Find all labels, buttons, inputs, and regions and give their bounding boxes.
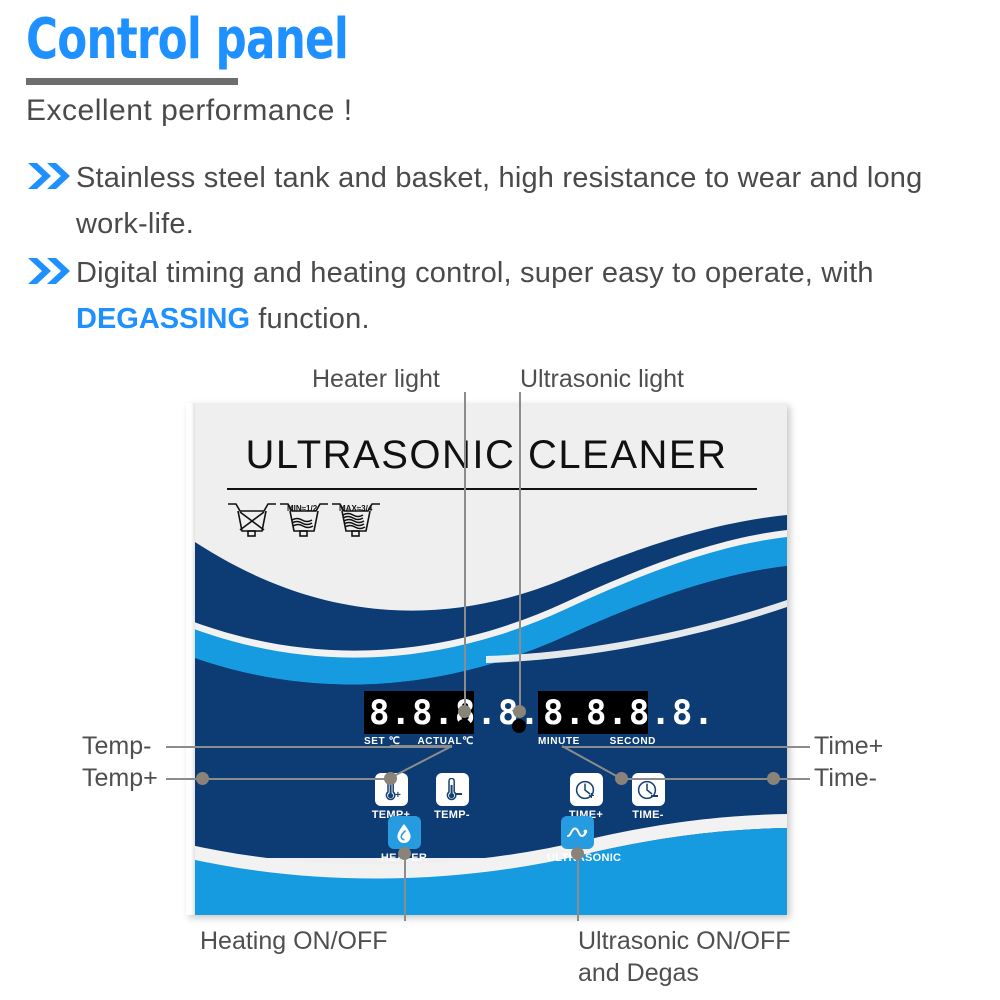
- water-drop-icon: [388, 816, 421, 849]
- tank-empty-forbidden-icon: [228, 504, 276, 536]
- timer-led-window: 8.8.8.8.: [538, 691, 648, 734]
- callout-heater-light: Heater light: [312, 363, 440, 395]
- callout-temp-minus: Temp-: [82, 730, 151, 762]
- panel-left-edge: [186, 403, 195, 915]
- callout-temp-plus: Temp+: [82, 762, 158, 794]
- timer-display: 8.8.8.8. MINUTE SECOND: [538, 691, 656, 747]
- leader-line-heating-onoff: [404, 855, 406, 921]
- leader-line-time-minus: [620, 778, 810, 780]
- panel-title-rule: [227, 488, 757, 490]
- leader-line-ultrasonic-onoff: [577, 855, 579, 921]
- panel-wave-artwork: [186, 403, 787, 915]
- time-plus-button[interactable]: + TIME+: [556, 773, 616, 821]
- feature-bullet-2-pre: Digital timing and heating control, supe…: [76, 257, 874, 289]
- control-panel-device: ULTRASONIC CLEANER: [186, 403, 787, 915]
- panel-brand-title: ULTRASONIC CLEANER: [186, 433, 787, 478]
- ultrasonic-indicator-light: [512, 719, 526, 733]
- tagline: Excellent performance !: [26, 94, 353, 128]
- leader-dot-heating-onoff: [398, 847, 411, 860]
- timer-led-digits: 8.8.8.8.: [543, 695, 643, 731]
- tank-min-label: MIN≈1/2: [287, 504, 318, 513]
- sound-wave-icon: [561, 816, 594, 849]
- time-minus-label: TIME-: [618, 809, 678, 821]
- leader-dot-temp-plus: [384, 772, 397, 785]
- double-chevron-icon: [26, 155, 76, 196]
- feature-bullet-2: Digital timing and heating control, supe…: [26, 250, 976, 342]
- degassing-highlight: DEGASSING: [76, 303, 250, 335]
- callout-heating-onoff: Heating ON/OFF: [200, 925, 388, 957]
- callout-ultrasonic-onoff-line1: Ultrasonic ON/OFF: [578, 925, 791, 957]
- temperature-led-digits: 8.8.8.8.: [369, 695, 469, 731]
- feature-bullet-1: Stainless steel tank and basket, high re…: [26, 155, 976, 247]
- callout-ultrasonic-light: Ultrasonic light: [520, 363, 684, 395]
- feature-bullet-2-text: Digital timing and heating control, supe…: [76, 250, 976, 342]
- tank-level-icon-group: MIN≈1/2 MAX≈3/4: [224, 498, 384, 545]
- callout-ultrasonic-onoff: Ultrasonic ON/OFF and Degas: [578, 925, 791, 989]
- leader-dot-heater-light: [458, 705, 471, 718]
- leader-line-ultrasonic-light: [519, 392, 521, 714]
- leader-dot-time-minus: [615, 772, 628, 785]
- svg-text:+: +: [395, 790, 401, 801]
- page-title: Control panel: [26, 12, 348, 68]
- feature-bullet-1-text: Stainless steel tank and basket, high re…: [76, 155, 976, 247]
- leader-dot-temp-panel-left: [196, 772, 209, 785]
- callout-ultrasonic-onoff-line2: and Degas: [578, 957, 791, 989]
- leader-dot-time-panel-right: [767, 772, 780, 785]
- tank-max-label: MAX≈3/4: [339, 504, 373, 513]
- svg-text:+: +: [589, 791, 595, 802]
- double-chevron-icon: [26, 250, 76, 291]
- title-underline-rule: [26, 78, 238, 85]
- header-section: Control panel Excellent performance ! St…: [0, 0, 1000, 352]
- temperature-display: 8.8.8.8. SET ℃ ACTUAL℃: [364, 691, 474, 747]
- heater-indicator-light: [457, 719, 471, 733]
- leader-line-time-plus: [562, 746, 810, 748]
- leader-line-heater-light: [464, 392, 466, 714]
- leader-line-temp-minus: [166, 746, 452, 748]
- thermometer-minus-icon: [436, 773, 469, 806]
- callout-time-plus: Time+: [814, 730, 883, 762]
- temp-minus-button[interactable]: TEMP-: [422, 773, 482, 821]
- callout-time-minus: Time-: [814, 762, 877, 794]
- feature-bullet-2-post: function.: [250, 303, 370, 335]
- leader-dot-ultrasonic-light: [513, 705, 526, 718]
- leader-dot-ultrasonic-onoff: [571, 847, 584, 860]
- clock-plus-icon: +: [570, 773, 603, 806]
